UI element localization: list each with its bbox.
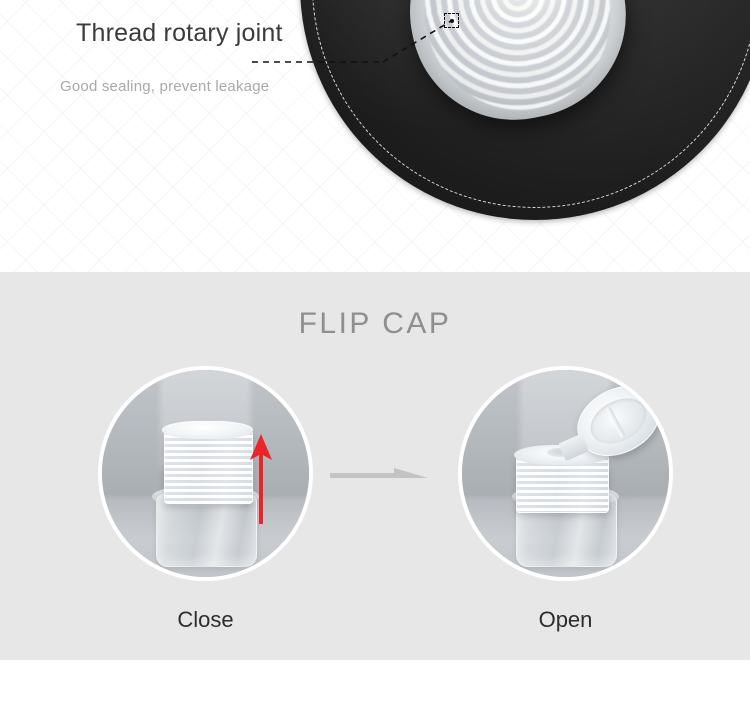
thread-target-marker-dot-icon <box>450 19 454 23</box>
callout-title: Thread rotary joint <box>76 19 283 48</box>
flip-cap-section-title: FLIP CAP <box>0 307 750 341</box>
photo-flip-cap-open <box>458 366 673 581</box>
caption-close: Close <box>98 607 313 633</box>
flip-cap-closed-body <box>164 428 253 505</box>
caption-open: Open <box>458 607 673 633</box>
callout-subtitle: Good sealing, prevent leakage <box>60 78 269 95</box>
product-detail-top-section: Thread rotary joint Good sealing, preven… <box>0 0 750 272</box>
flip-cap-closed-lid <box>162 421 253 440</box>
transition-right-arrow-icon <box>330 460 430 488</box>
flip-cap-section: FLIP CAP Close Open <box>0 272 750 660</box>
bottom-white-strip <box>0 660 750 713</box>
photo-flip-cap-closed <box>98 366 313 581</box>
red-up-arrow-icon <box>248 430 274 526</box>
